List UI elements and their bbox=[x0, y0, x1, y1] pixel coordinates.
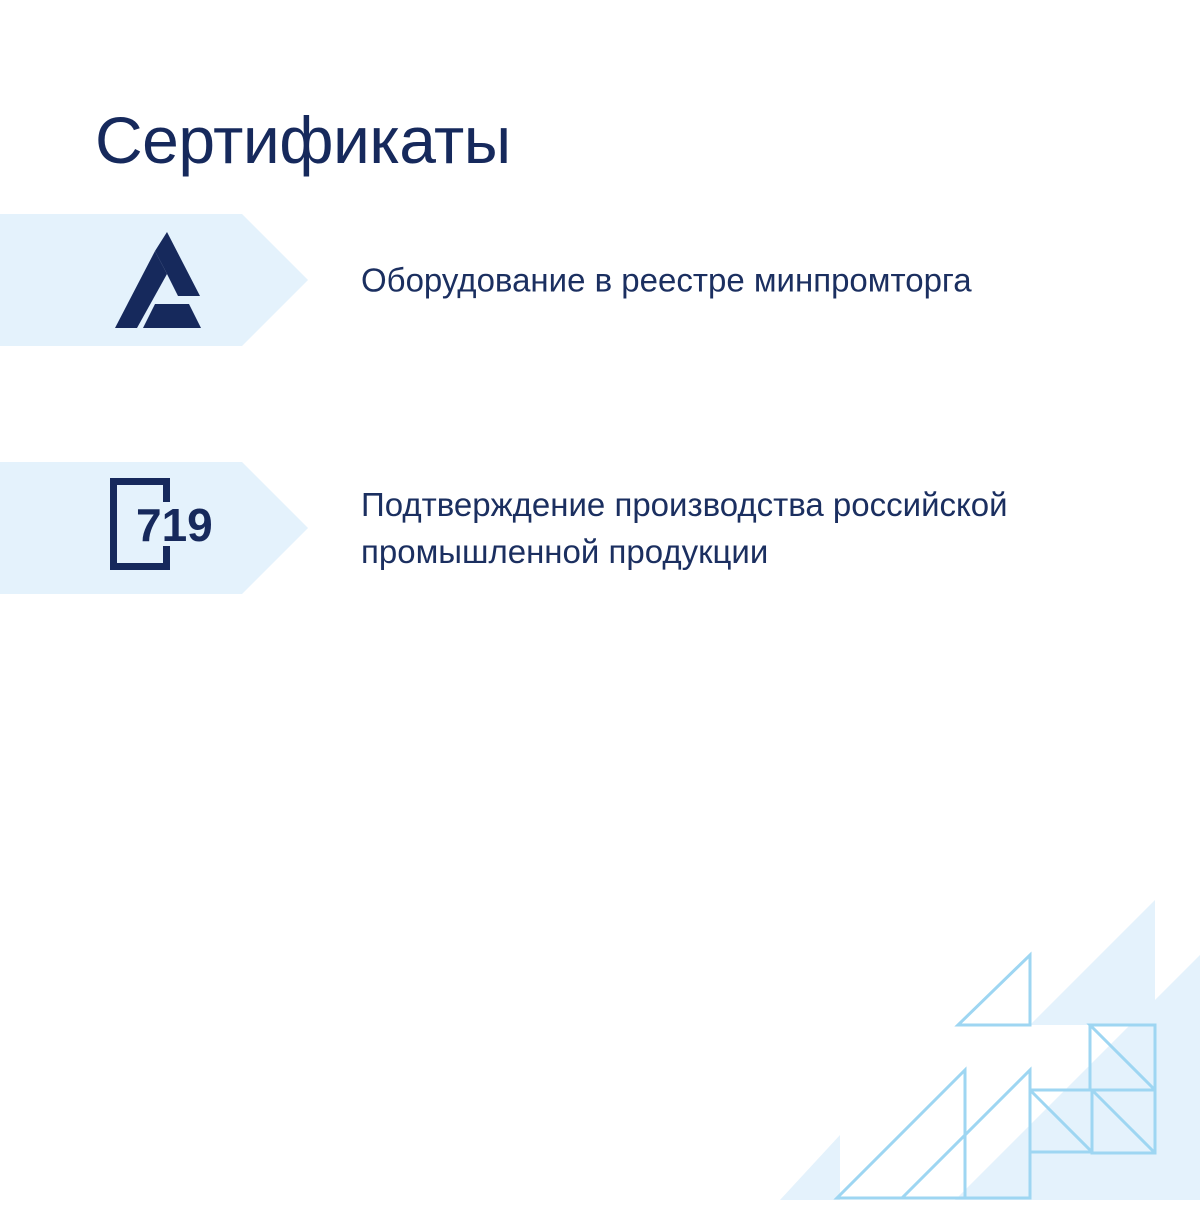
minpromtorg-triangle-logo-icon bbox=[108, 214, 228, 346]
geometric-triangles-corner-decoration bbox=[780, 900, 1200, 1200]
document-719-icon: 719 bbox=[108, 462, 228, 594]
certificate-text: Оборудование в реестре минпромторга bbox=[361, 257, 1041, 304]
certificate-row: 719 Подтверждение производства российско… bbox=[0, 462, 1200, 594]
page-title: Сертификаты bbox=[95, 106, 511, 175]
certificate-text: Подтверждение производства российской пр… bbox=[361, 481, 1041, 575]
slide-root: Сертификаты Оборудование в реестре минпр… bbox=[0, 0, 1200, 1200]
document-719-label: 719 bbox=[136, 499, 213, 551]
certificate-row: Оборудование в реестре минпромторга bbox=[0, 214, 1200, 346]
